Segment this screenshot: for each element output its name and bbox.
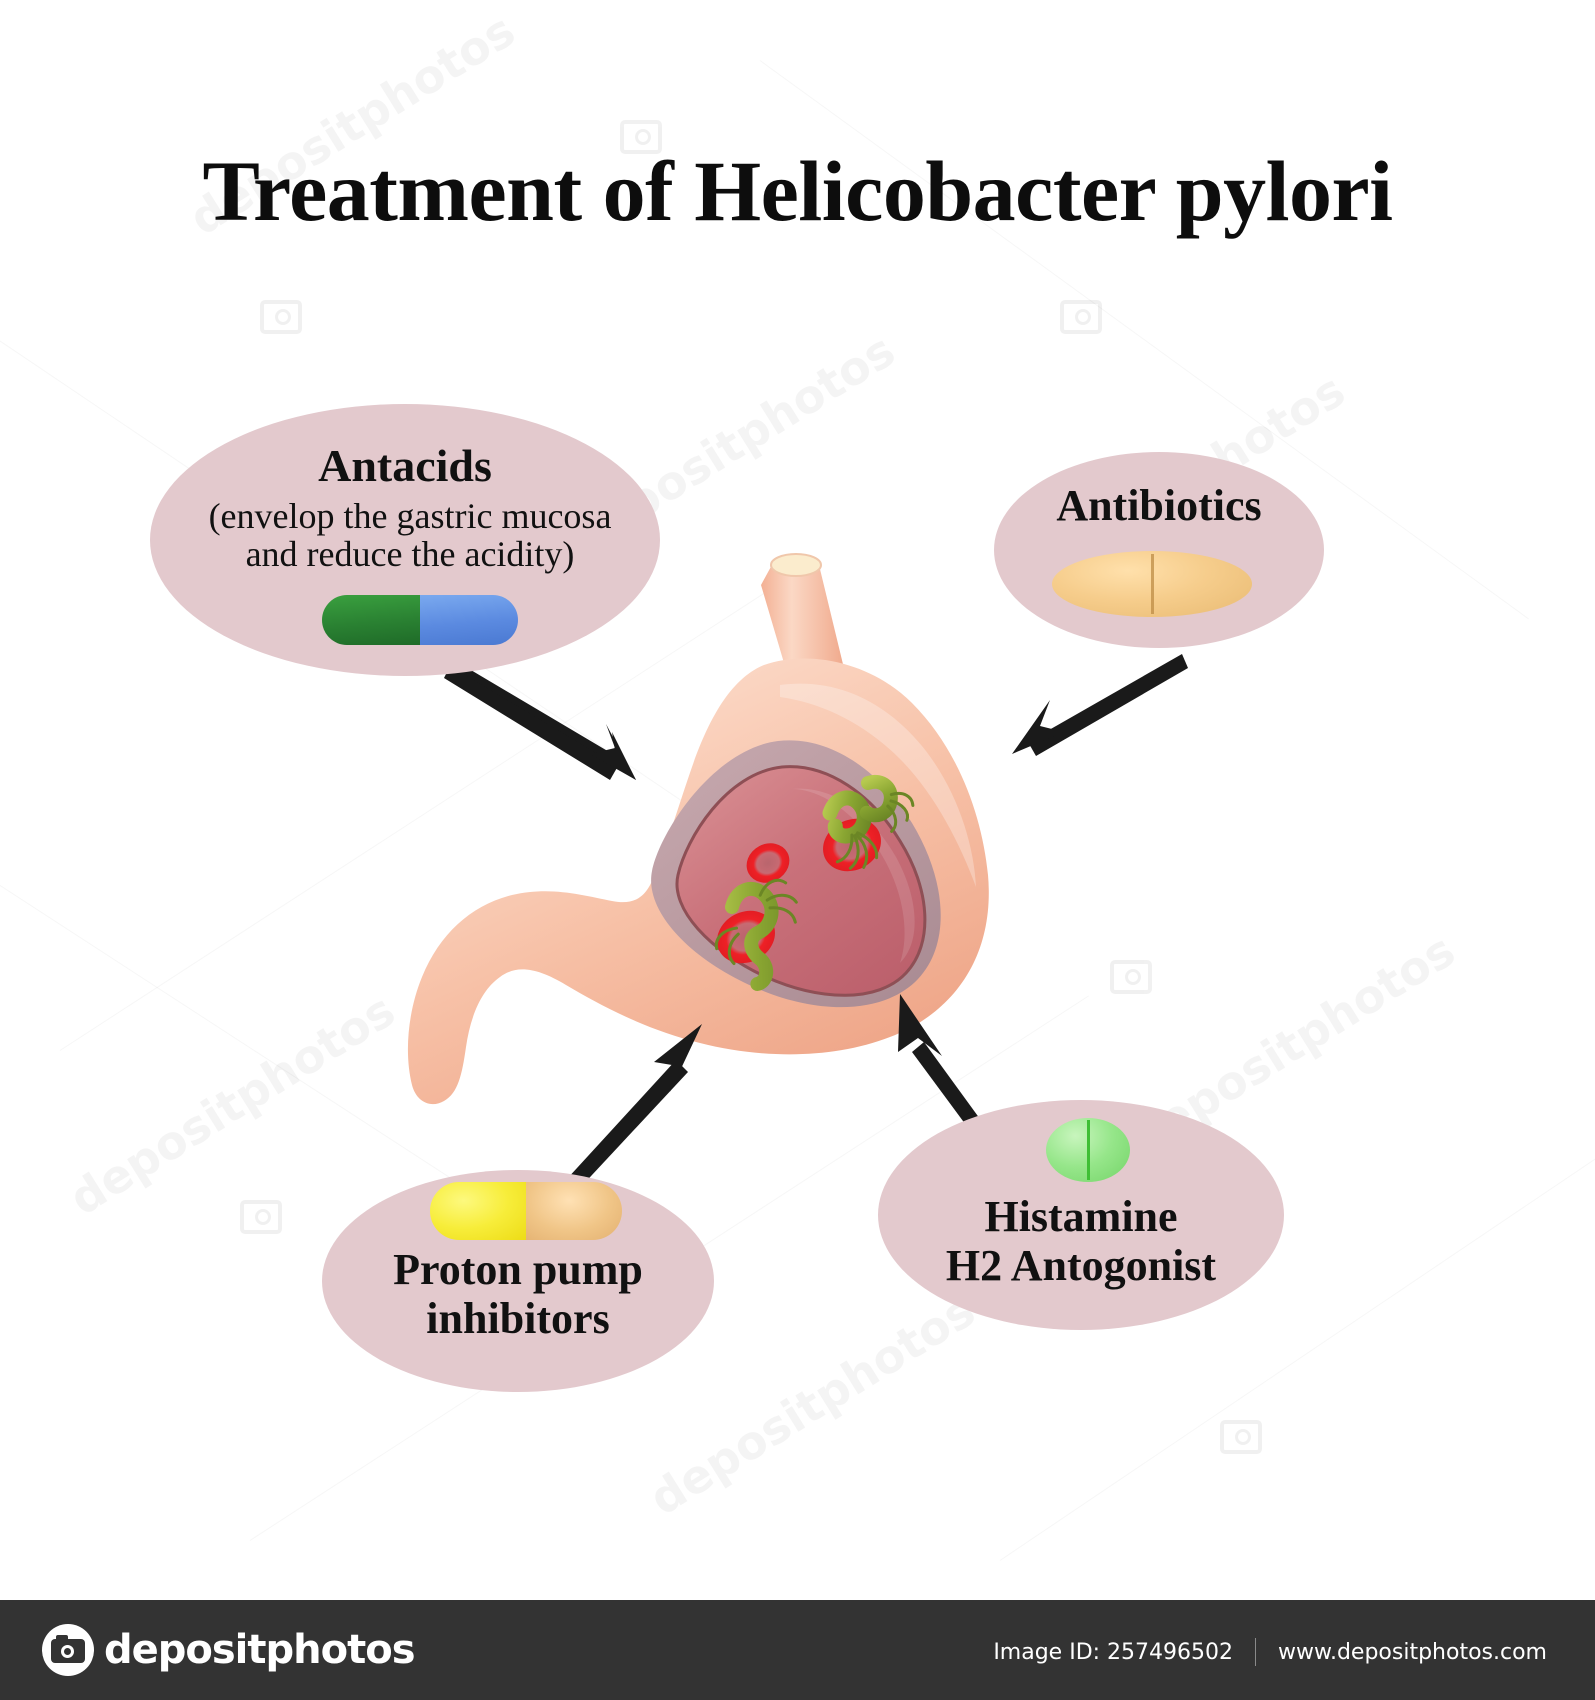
antacids-capsule-icon (322, 595, 518, 645)
canvas: depositphotos depositphotos depositphoto… (0, 0, 1595, 1700)
capsule-left-half (430, 1182, 526, 1240)
tablet-score-line (1151, 554, 1154, 614)
footer-divider (1255, 1638, 1256, 1666)
image-id-label: Image ID: 257496502 (993, 1640, 1233, 1665)
capsule-left-half (322, 595, 420, 645)
brand-wordmark: depositphotos (104, 1627, 415, 1673)
watermark-camera-icon (240, 1200, 282, 1234)
tablet-score-line (1087, 1120, 1090, 1180)
watermark-text: depositphotos (60, 983, 404, 1226)
antacids-subtext: (envelop the gastric mucosa and reduce t… (150, 497, 670, 573)
depositphotos-logo[interactable]: depositphotos (42, 1624, 415, 1676)
esophagus-opening (771, 554, 821, 576)
ppi-heading: Proton pump inhibitors (322, 1245, 714, 1344)
camera-icon (42, 1624, 94, 1676)
page-title: Treatment of Helicobacter pylori (0, 148, 1595, 234)
website-link[interactable]: www.depositphotos.com (1278, 1640, 1547, 1665)
arrow-antibiotics-to-stomach (990, 650, 1190, 770)
watermark-camera-icon (1110, 960, 1152, 994)
watermark-camera-icon (1060, 300, 1102, 334)
antibiotics-heading: Antibiotics (994, 483, 1324, 530)
antibiotics-tablet-icon (1052, 551, 1252, 617)
footer-meta: Image ID: 257496502 www.depositphotos.co… (993, 1638, 1547, 1666)
ppi-capsule-icon (430, 1182, 622, 1240)
watermark-camera-icon (260, 300, 302, 334)
capsule-right-half (526, 1182, 622, 1240)
capsule-right-half (420, 595, 518, 645)
antacids-heading: Antacids (150, 442, 660, 491)
h2-tablet-icon (1046, 1118, 1130, 1182)
h2-heading: Histamine H2 Antogonist (878, 1192, 1284, 1291)
arrow-ppi-to-stomach (550, 1020, 730, 1190)
watermark-camera-icon (1220, 1420, 1262, 1454)
